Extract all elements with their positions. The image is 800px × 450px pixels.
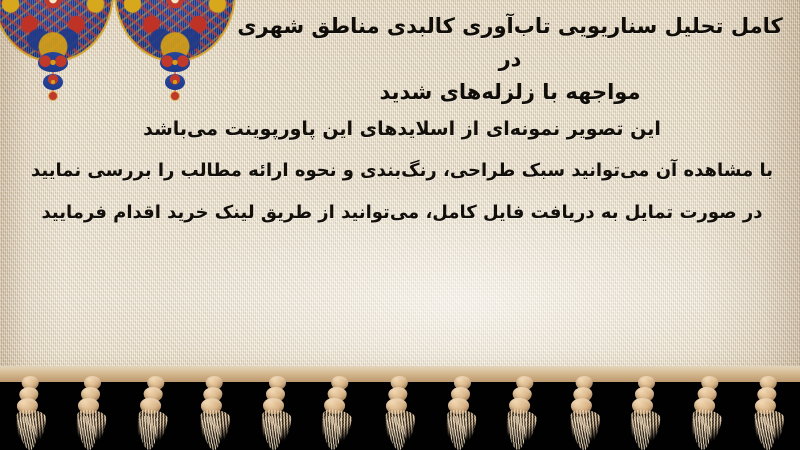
slide-body-line-3: در صورت تمایل به دریافت فایل کامل، می‌تو…: [18, 192, 786, 234]
slide-canvas: کامل تحلیل سناریویی تاب‌آوری کالبدی مناط…: [0, 0, 800, 450]
fringe-tassel: [12, 369, 50, 445]
slide-body-line-2: با مشاهده آن می‌توانید سبک طراحی، رنگ‌بن…: [18, 150, 786, 192]
fringe-tassel: [260, 370, 294, 444]
slide-body: این تصویر نمونه‌ای از اسلایدهای این پاور…: [18, 108, 786, 234]
fringe-tassel: [135, 369, 173, 445]
fringe-tassel: [381, 369, 419, 445]
fringe-tassel: [750, 369, 788, 445]
fringe-tassel: [75, 370, 109, 444]
slide-text-layer: کامل تحلیل سناریویی تاب‌آوری کالبدی مناط…: [0, 0, 800, 378]
fringe-tassel: [320, 369, 358, 445]
slide-title: کامل تحلیل سناریویی تاب‌آوری کالبدی مناط…: [232, 10, 788, 109]
fringe-tassel: [445, 370, 479, 444]
slide-title-line-2: مواجهه با زلزله‌های شدید: [232, 76, 788, 109]
carpet-fringe: [0, 366, 800, 450]
fringe-tassel: [629, 370, 663, 444]
slide-body-line-1: این تصویر نمونه‌ای از اسلایدهای این پاور…: [18, 108, 786, 150]
fringe-tassel: [689, 369, 727, 445]
fringe-tassel: [566, 369, 604, 445]
fringe-tassel: [504, 369, 542, 445]
fringe-tassel: [196, 369, 234, 445]
slide-title-line-1: کامل تحلیل سناریویی تاب‌آوری کالبدی مناط…: [232, 10, 788, 76]
